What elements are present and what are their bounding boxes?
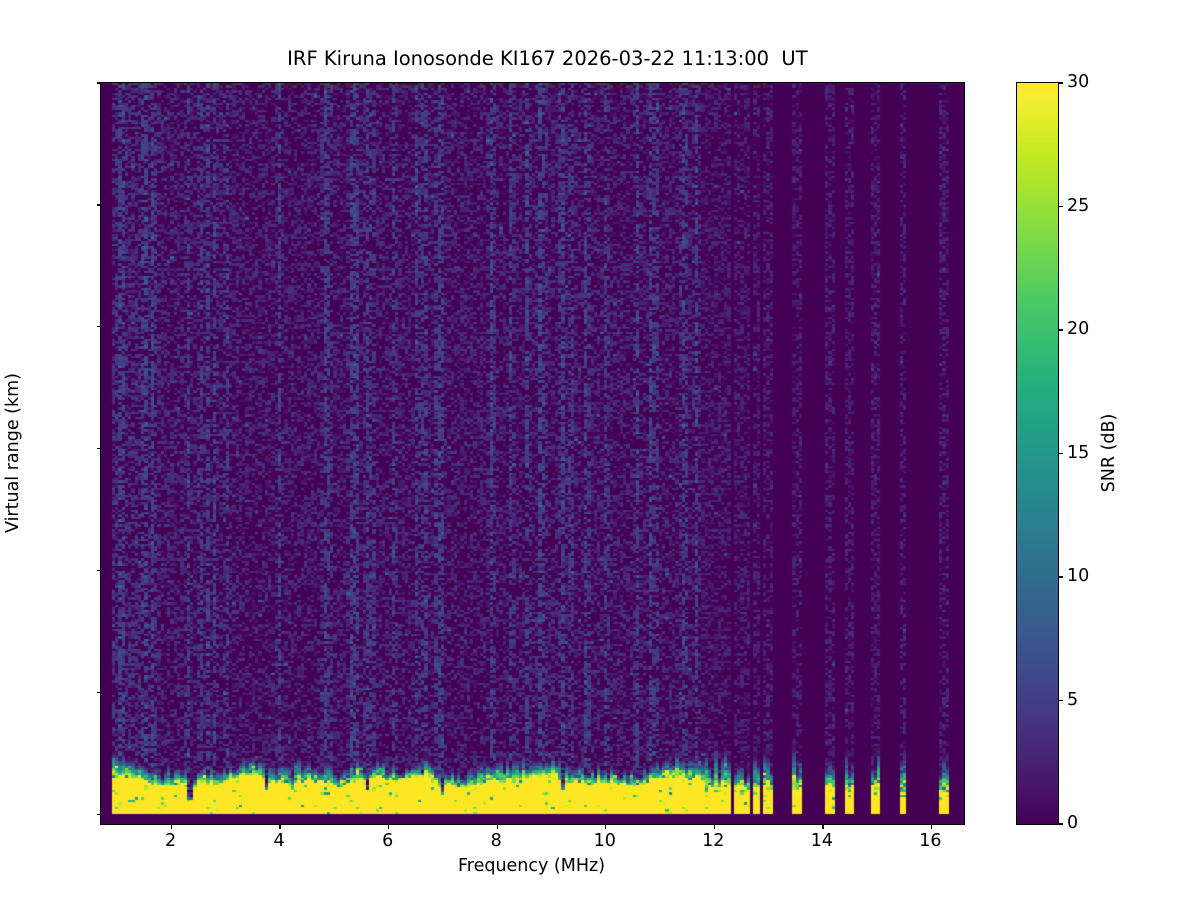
colorbar-tick-label: 15 [1067, 443, 1089, 463]
x-tick-label: 4 [274, 831, 285, 851]
x-tick-mark [931, 824, 932, 829]
y-tick-mark [97, 448, 102, 449]
y-tick-mark [97, 82, 102, 83]
y-tick-mark [97, 570, 102, 571]
x-axis-label: Frequency (MHz) [458, 856, 605, 876]
colorbar-tick-mark [1058, 823, 1063, 824]
x-tick-mark [822, 824, 823, 829]
y-tick-mark [97, 326, 102, 327]
x-tick-mark [605, 824, 606, 829]
y-tick-mark [97, 814, 102, 815]
x-tick-mark [279, 824, 280, 829]
x-tick-mark [714, 824, 715, 829]
x-tick-mark [497, 824, 498, 829]
colorbar-tick-mark [1058, 453, 1063, 454]
x-tick-mark [388, 824, 389, 829]
heatmap-region [101, 83, 964, 824]
colorbar-label: SNR (dB) [1099, 413, 1119, 492]
y-tick-mark [97, 692, 102, 693]
x-tick-mark [171, 824, 172, 829]
colorbar-tick-label: 0 [1067, 813, 1078, 833]
colorbar-tick-mark [1058, 700, 1063, 701]
x-tick-label: 8 [491, 831, 502, 851]
ionogram-figure: IRF Kiruna Ionosonde KI167 2026-03-22 11… [0, 0, 1200, 900]
x-tick-label: 16 [919, 831, 941, 851]
colorbar-tick-mark [1058, 206, 1063, 207]
ionogram-heatmap-canvas [101, 83, 964, 824]
x-tick-label: 14 [811, 831, 833, 851]
title-line-1: IRF Kiruna Ionosonde KI167 2026-03-22 11… [287, 47, 807, 70]
colorbar: 051015202530 [1016, 82, 1059, 825]
colorbar-tick-label: 5 [1067, 690, 1078, 710]
y-tick-mark [97, 204, 102, 205]
colorbar-tick-label: 30 [1067, 72, 1089, 92]
colorbar-tick-mark [1058, 329, 1063, 330]
colorbar-tick-label: 20 [1067, 319, 1089, 339]
colorbar-tick-label: 10 [1067, 566, 1089, 586]
x-tick-label: 2 [165, 831, 176, 851]
x-tick-label: 6 [382, 831, 393, 851]
colorbar-tick-mark [1058, 82, 1063, 83]
x-tick-label: 10 [594, 831, 616, 851]
plot-area: 0100200300400500600 [100, 82, 965, 825]
y-axis-label: Virtual range (km) [3, 372, 23, 532]
x-tick-label: 12 [702, 831, 724, 851]
colorbar-gradient [1017, 83, 1058, 824]
colorbar-tick-label: 25 [1067, 196, 1089, 216]
colorbar-tick-mark [1058, 576, 1063, 577]
